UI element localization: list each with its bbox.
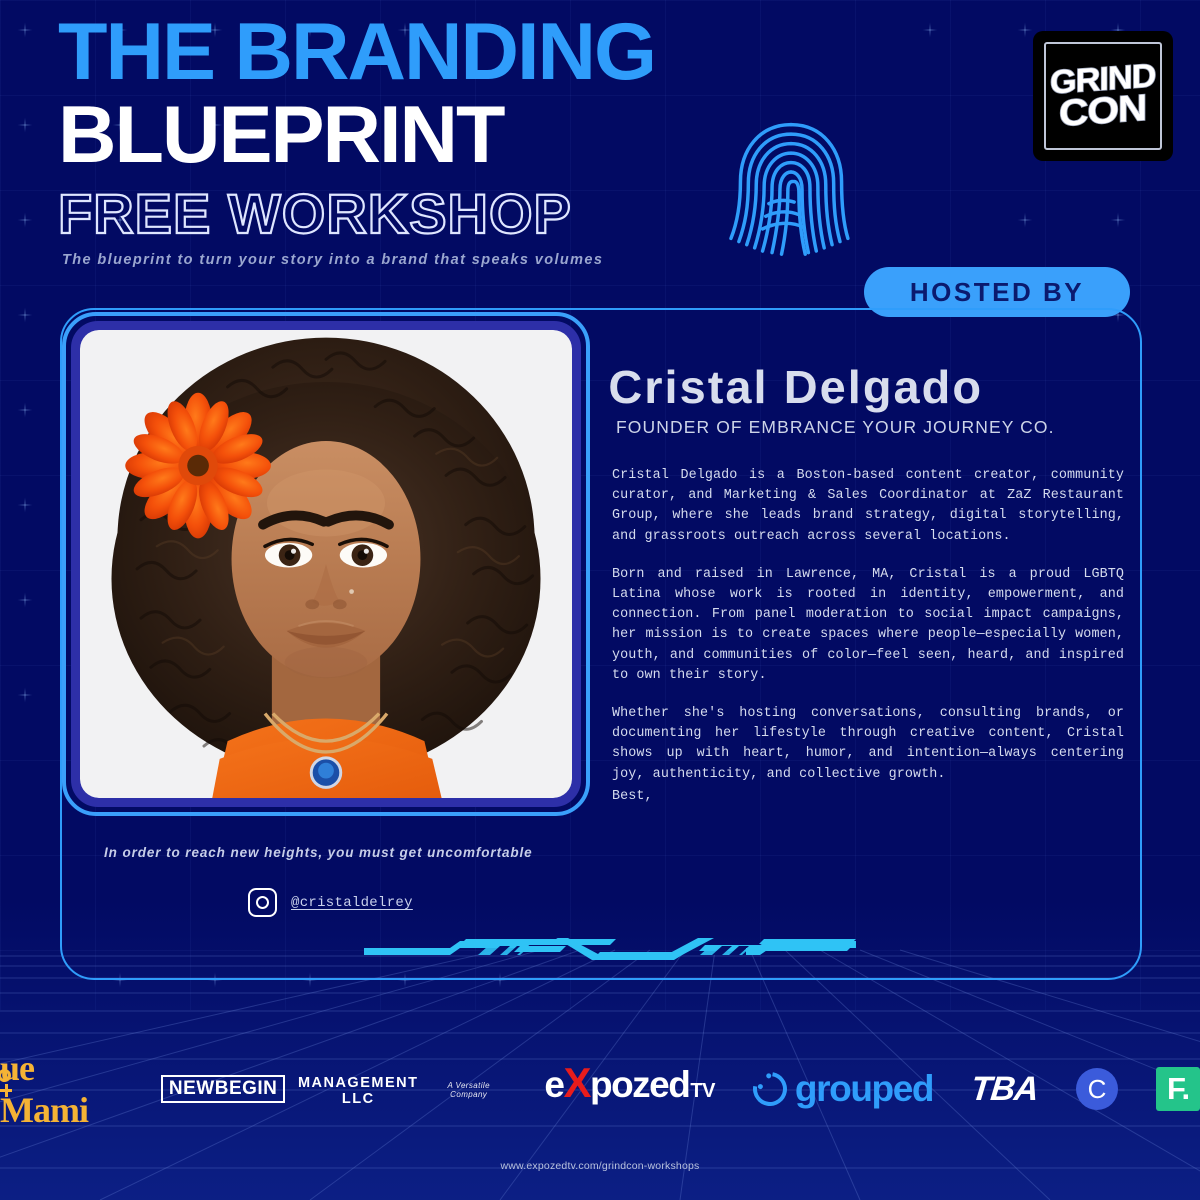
sparkle-icon (14, 494, 36, 516)
hosted-by-label: HOSTED BY (910, 277, 1084, 308)
newbegin-line-3: A Versatile Company (431, 1081, 506, 1099)
fingerprint-icon (712, 112, 870, 270)
sponsor-bar: ue Mami NEWBEGIN MANAGEMENT LLC A Versat… (0, 1058, 1200, 1120)
grouped-label: grouped (795, 1068, 933, 1110)
sparkle-icon (14, 304, 36, 326)
sponsor-logo-c-badge: C (1076, 1059, 1118, 1119)
expozed-suffix: pozed (590, 1064, 689, 1106)
speaker-photo-frame (62, 312, 590, 816)
footer-url[interactable]: www.expozedtv.com/grindcon-workshops (0, 1160, 1200, 1172)
sponsor-que-mami-label: ue Mami (0, 1047, 123, 1131)
speaker-name: Cristal Delgado (608, 360, 983, 414)
f-badge-label: F. (1156, 1067, 1200, 1111)
sparkle-icon (1014, 19, 1036, 41)
bio-signoff: Best, (612, 787, 1124, 807)
speaker-photo (80, 330, 572, 798)
sparkle-icon (14, 209, 36, 231)
speaker-role: FOUNDER OF EMBRANCE YOUR JOURNEY CO. (616, 417, 1055, 438)
social-link-instagram[interactable]: @cristaldelrey (248, 888, 413, 917)
sparkle-icon (14, 589, 36, 611)
grindcon-logo-line-2: CON (1059, 92, 1146, 131)
sponsor-logo-f-badge: F. (1156, 1059, 1200, 1119)
sponsor-logo-que-mami: ue Mami (0, 1059, 123, 1119)
sponsor-logo-grouped: grouped (753, 1059, 933, 1119)
smiley-face-icon (746, 1065, 793, 1112)
bio-paragraph-2: Born and raised in Lawrence, MA, Cristal… (612, 565, 1124, 686)
speaker-quote: In order to reach new heights, you must … (104, 845, 574, 860)
c-badge-label: C (1076, 1068, 1118, 1110)
expozed-prefix: e (544, 1064, 563, 1106)
grindcon-logo: GRIND CON (1036, 34, 1170, 158)
bio-paragraph-1: Cristal Delgado is a Boston-based conten… (612, 466, 1124, 547)
techno-divider (360, 926, 860, 966)
speaker-bio: Cristal Delgado is a Boston-based conten… (612, 466, 1124, 807)
sparkle-icon (1107, 209, 1129, 231)
expozed-accent-x: X (563, 1059, 590, 1107)
sparkle-icon (14, 684, 36, 706)
poster-canvas: THE BRANDING BLUEPRINT FREE WORKSHOP The… (0, 0, 1200, 1200)
sparkle-icon (14, 19, 36, 41)
instagram-icon[interactable] (248, 888, 277, 917)
sponsor-logo-tba: TBA (968, 1059, 1041, 1119)
newbegin-line-2: MANAGEMENT LLC (285, 1075, 431, 1107)
sparkle-icon (14, 399, 36, 421)
expozed-tv-mark: TV (690, 1080, 715, 1103)
newbegin-line-1: NEWBEGIN (161, 1075, 286, 1103)
bio-paragraph-3: Whether she's hosting conversations, con… (612, 704, 1124, 785)
sparkle-icon (1014, 209, 1036, 231)
sparkle-icon (14, 114, 36, 136)
sponsor-logo-newbegin: NEWBEGIN MANAGEMENT LLC A Versatile Comp… (161, 1059, 506, 1119)
sponsor-logo-expozedtv: e X pozed TV (544, 1059, 715, 1119)
instagram-handle[interactable]: @cristaldelrey (291, 895, 413, 911)
title-line-1: THE BRANDING (58, 14, 958, 91)
